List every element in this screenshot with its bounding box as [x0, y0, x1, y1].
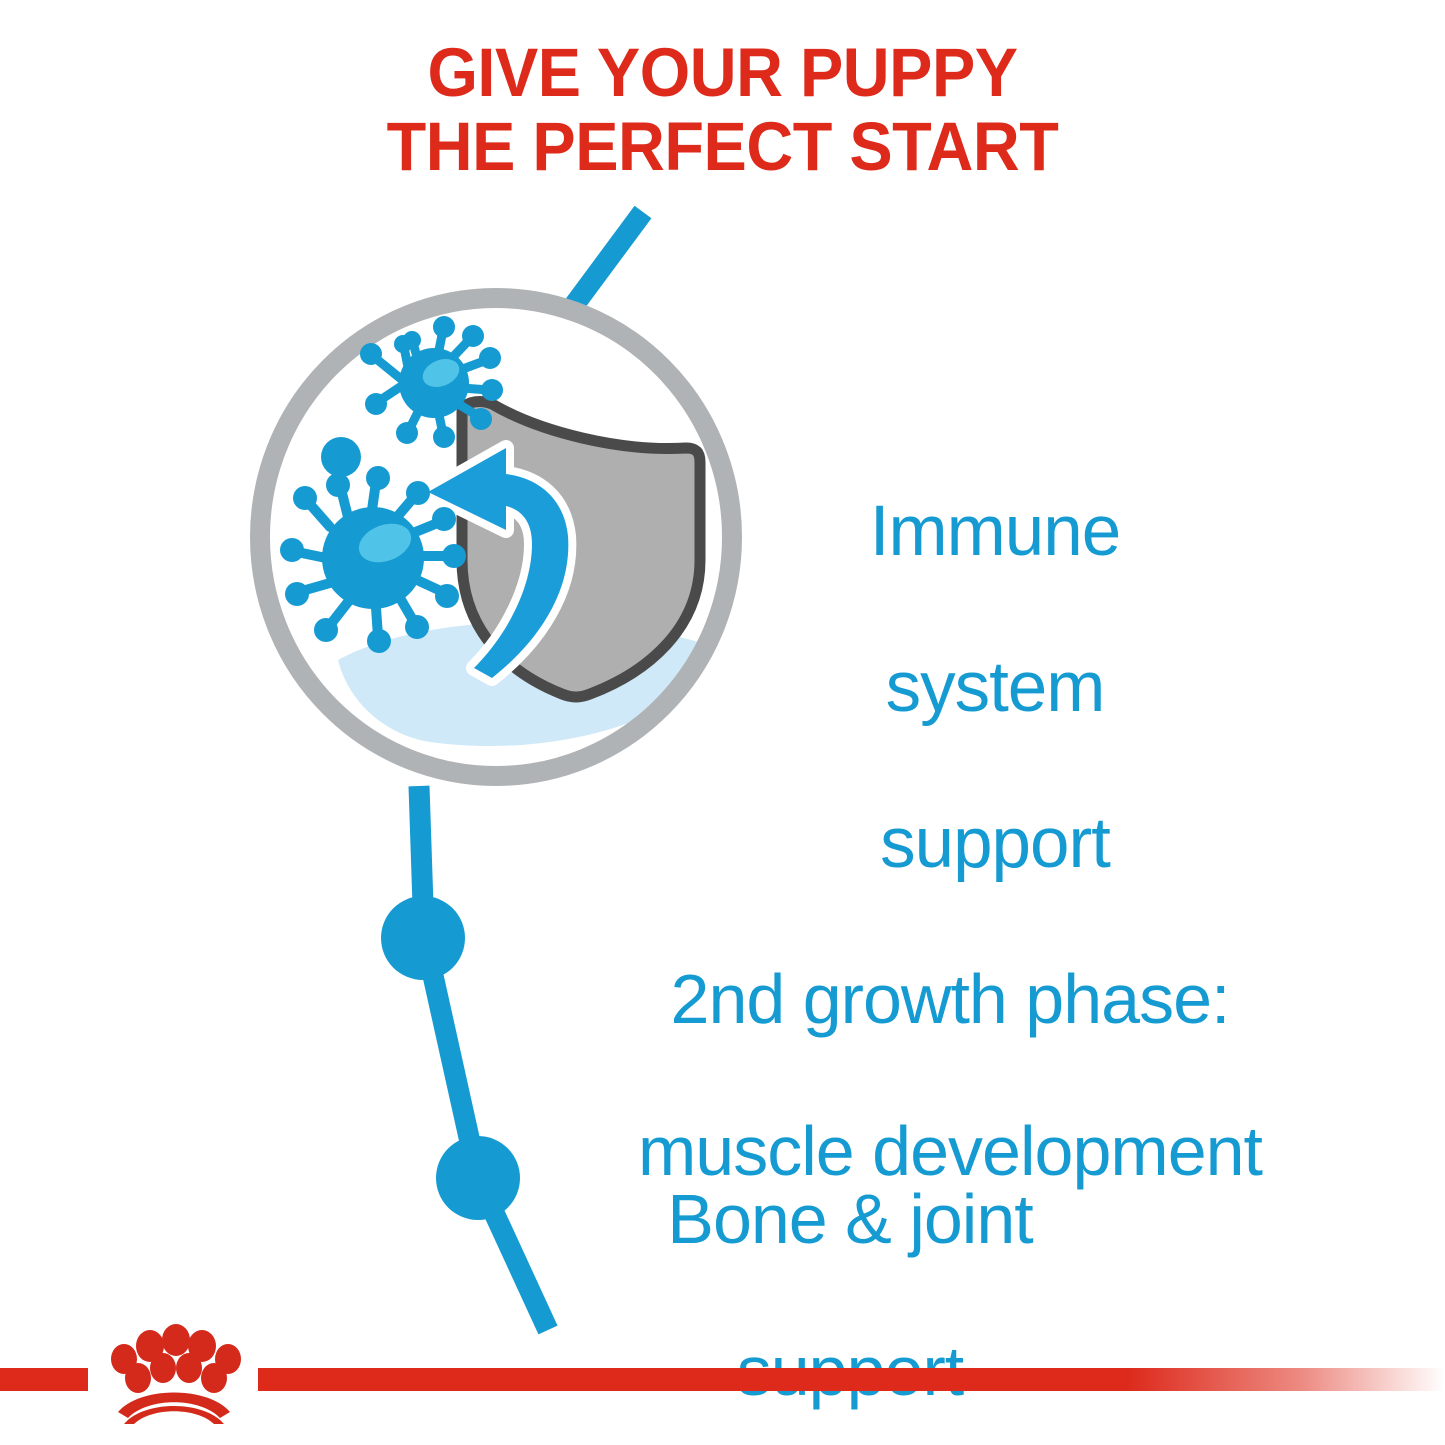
page-title: GIVE YOUR PUPPY THE PERFECT START [43, 36, 1401, 184]
base-ellipse [338, 621, 718, 746]
benefit-2-line-1: 2nd growth phase: [480, 961, 1420, 1037]
virus-dot-small [321, 437, 361, 477]
benefit-immune-system-support: Immune system support [780, 415, 1210, 961]
benefit-1-line-1: Immune [780, 493, 1210, 571]
immune-shield-icon [254, 292, 738, 782]
shield-icon [462, 402, 700, 697]
benefit-1-line-2: system [780, 649, 1210, 727]
connector-node-1 [381, 896, 465, 980]
headline-line-2: THE PERFECT START [43, 110, 1401, 184]
royal-canin-crown-logo [88, 1320, 260, 1424]
benefit-1-line-3: support [780, 805, 1210, 883]
benefit-bone-joint-support: Bone & joint support [540, 1105, 1160, 1445]
circle-ring [260, 298, 732, 776]
deflect-arrow-icon [428, 448, 568, 678]
virus-icon-upper [360, 316, 503, 448]
infographic-page: GIVE YOUR PUPPY THE PERFECT START [0, 0, 1445, 1445]
benefit-3-line-1: Bone & joint [540, 1181, 1160, 1257]
virus-icon-lower [280, 466, 466, 653]
headline-line-1: GIVE YOUR PUPPY [43, 36, 1401, 110]
